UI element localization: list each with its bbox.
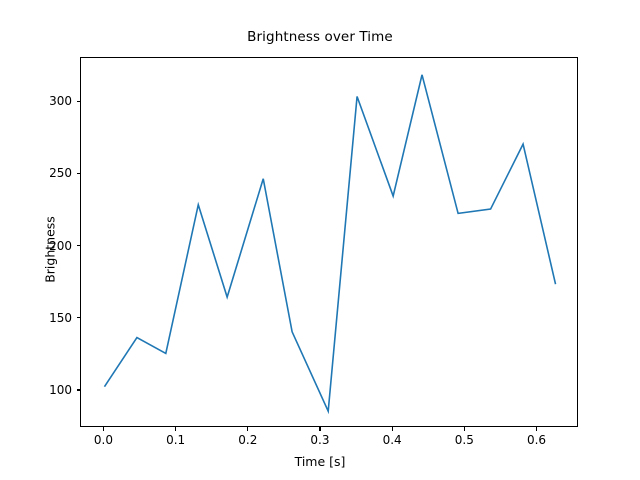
y-tick-mark	[77, 317, 81, 318]
x-tick-mark	[464, 427, 465, 431]
y-tick-mark	[77, 389, 81, 390]
x-tick-mark	[392, 427, 393, 431]
y-axis-label: Brightness	[43, 190, 58, 310]
x-axis-label: Time [s]	[0, 454, 640, 469]
y-tick-label: 250	[30, 166, 72, 180]
y-tick-mark	[77, 173, 81, 174]
chart-title: Brightness over Time	[0, 29, 640, 45]
y-tick-mark	[77, 101, 81, 102]
brightness-line	[104, 75, 555, 411]
x-tick-label: 0.1	[166, 433, 185, 447]
x-tick-mark	[103, 427, 104, 431]
chart-figure: Brightness over Time 0.00.10.20.30.40.50…	[0, 0, 640, 480]
x-tick-mark	[536, 427, 537, 431]
x-tick-mark	[175, 427, 176, 431]
x-tick-label: 0.4	[383, 433, 402, 447]
x-tick-mark	[319, 427, 320, 431]
x-tick-label: 0.0	[94, 433, 113, 447]
x-tick-label: 0.3	[310, 433, 329, 447]
x-tick-mark	[247, 427, 248, 431]
x-tick-label: 0.5	[455, 433, 474, 447]
x-tick-label: 0.2	[238, 433, 257, 447]
x-tick-label: 0.6	[527, 433, 546, 447]
plot-area	[80, 57, 578, 427]
y-tick-label: 100	[30, 383, 72, 397]
y-tick-mark	[77, 245, 81, 246]
y-tick-label: 150	[30, 311, 72, 325]
y-tick-label: 300	[30, 94, 72, 108]
line-series-svg	[81, 58, 579, 428]
